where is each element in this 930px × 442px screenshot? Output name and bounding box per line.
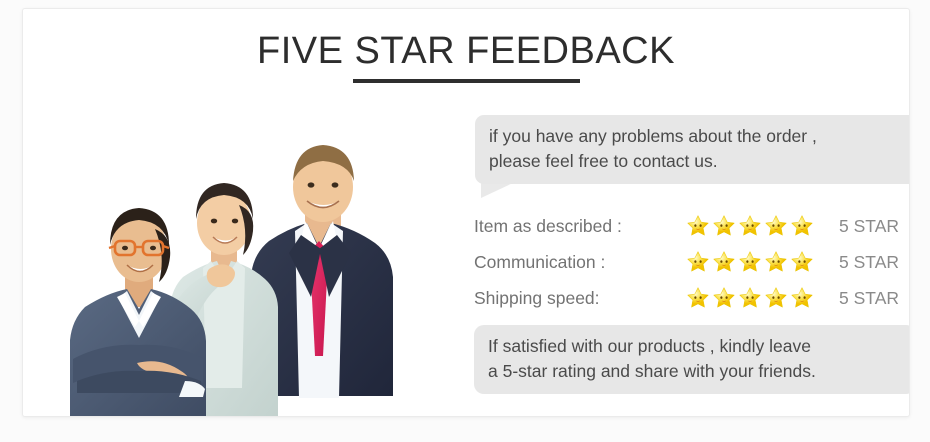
rating-request-bubble: If satisfied with our products , kindly … — [474, 325, 910, 394]
star-icon[interactable] — [712, 214, 736, 238]
rating-label: Communication : — [474, 252, 686, 273]
star-icon[interactable] — [764, 214, 788, 238]
star-icon[interactable] — [686, 286, 710, 310]
contact-bubble: if you have any problems about the order… — [475, 115, 910, 184]
feedback-content: if you have any problems about the order… — [453, 115, 899, 394]
title-block: FIVE STAR FEEDBACK — [23, 29, 909, 83]
rating-label: Item as described : — [474, 216, 686, 237]
star-icon[interactable] — [738, 250, 762, 274]
star-icon[interactable] — [764, 286, 788, 310]
rating-value: 5 STAR — [815, 216, 899, 237]
star-rating[interactable] — [686, 214, 815, 238]
star-icon[interactable] — [764, 250, 788, 274]
rating-row: Communication : 5 STAR — [474, 244, 899, 280]
rating-row: Shipping speed: 5 STAR — [474, 280, 899, 316]
rating-label: Shipping speed: — [474, 288, 686, 309]
star-icon[interactable] — [686, 250, 710, 274]
star-icon[interactable] — [712, 250, 736, 274]
star-icon[interactable] — [790, 250, 814, 274]
rating-value: 5 STAR — [815, 288, 899, 309]
feedback-banner: FIVE STAR FEEDBACK — [0, 0, 930, 442]
rating-value: 5 STAR — [815, 252, 899, 273]
rating-row: Item as described : 5 STAR — [474, 208, 899, 244]
rating-request-line-2: a 5-star rating and share with your frie… — [488, 359, 902, 384]
star-rating[interactable] — [686, 250, 815, 274]
title-underline — [353, 79, 580, 83]
contact-bubble-line-1: if you have any problems about the order… — [489, 124, 903, 149]
contact-bubble-line-2: please feel free to contact us. — [489, 149, 903, 174]
star-rating[interactable] — [686, 286, 815, 310]
star-icon[interactable] — [738, 286, 762, 310]
star-icon[interactable] — [738, 214, 762, 238]
feedback-card: FIVE STAR FEEDBACK — [22, 8, 910, 417]
speech-bubble-tail — [481, 182, 515, 198]
star-icon[interactable] — [790, 286, 814, 310]
star-icon[interactable] — [712, 286, 736, 310]
rating-request-line-1: If satisfied with our products , kindly … — [488, 334, 902, 359]
ratings-list: Item as described : 5 STAR Communication… — [474, 208, 899, 316]
star-icon[interactable] — [686, 214, 710, 238]
team-photo — [33, 101, 433, 416]
star-icon[interactable] — [790, 214, 814, 238]
page-title: FIVE STAR FEEDBACK — [23, 29, 909, 73]
